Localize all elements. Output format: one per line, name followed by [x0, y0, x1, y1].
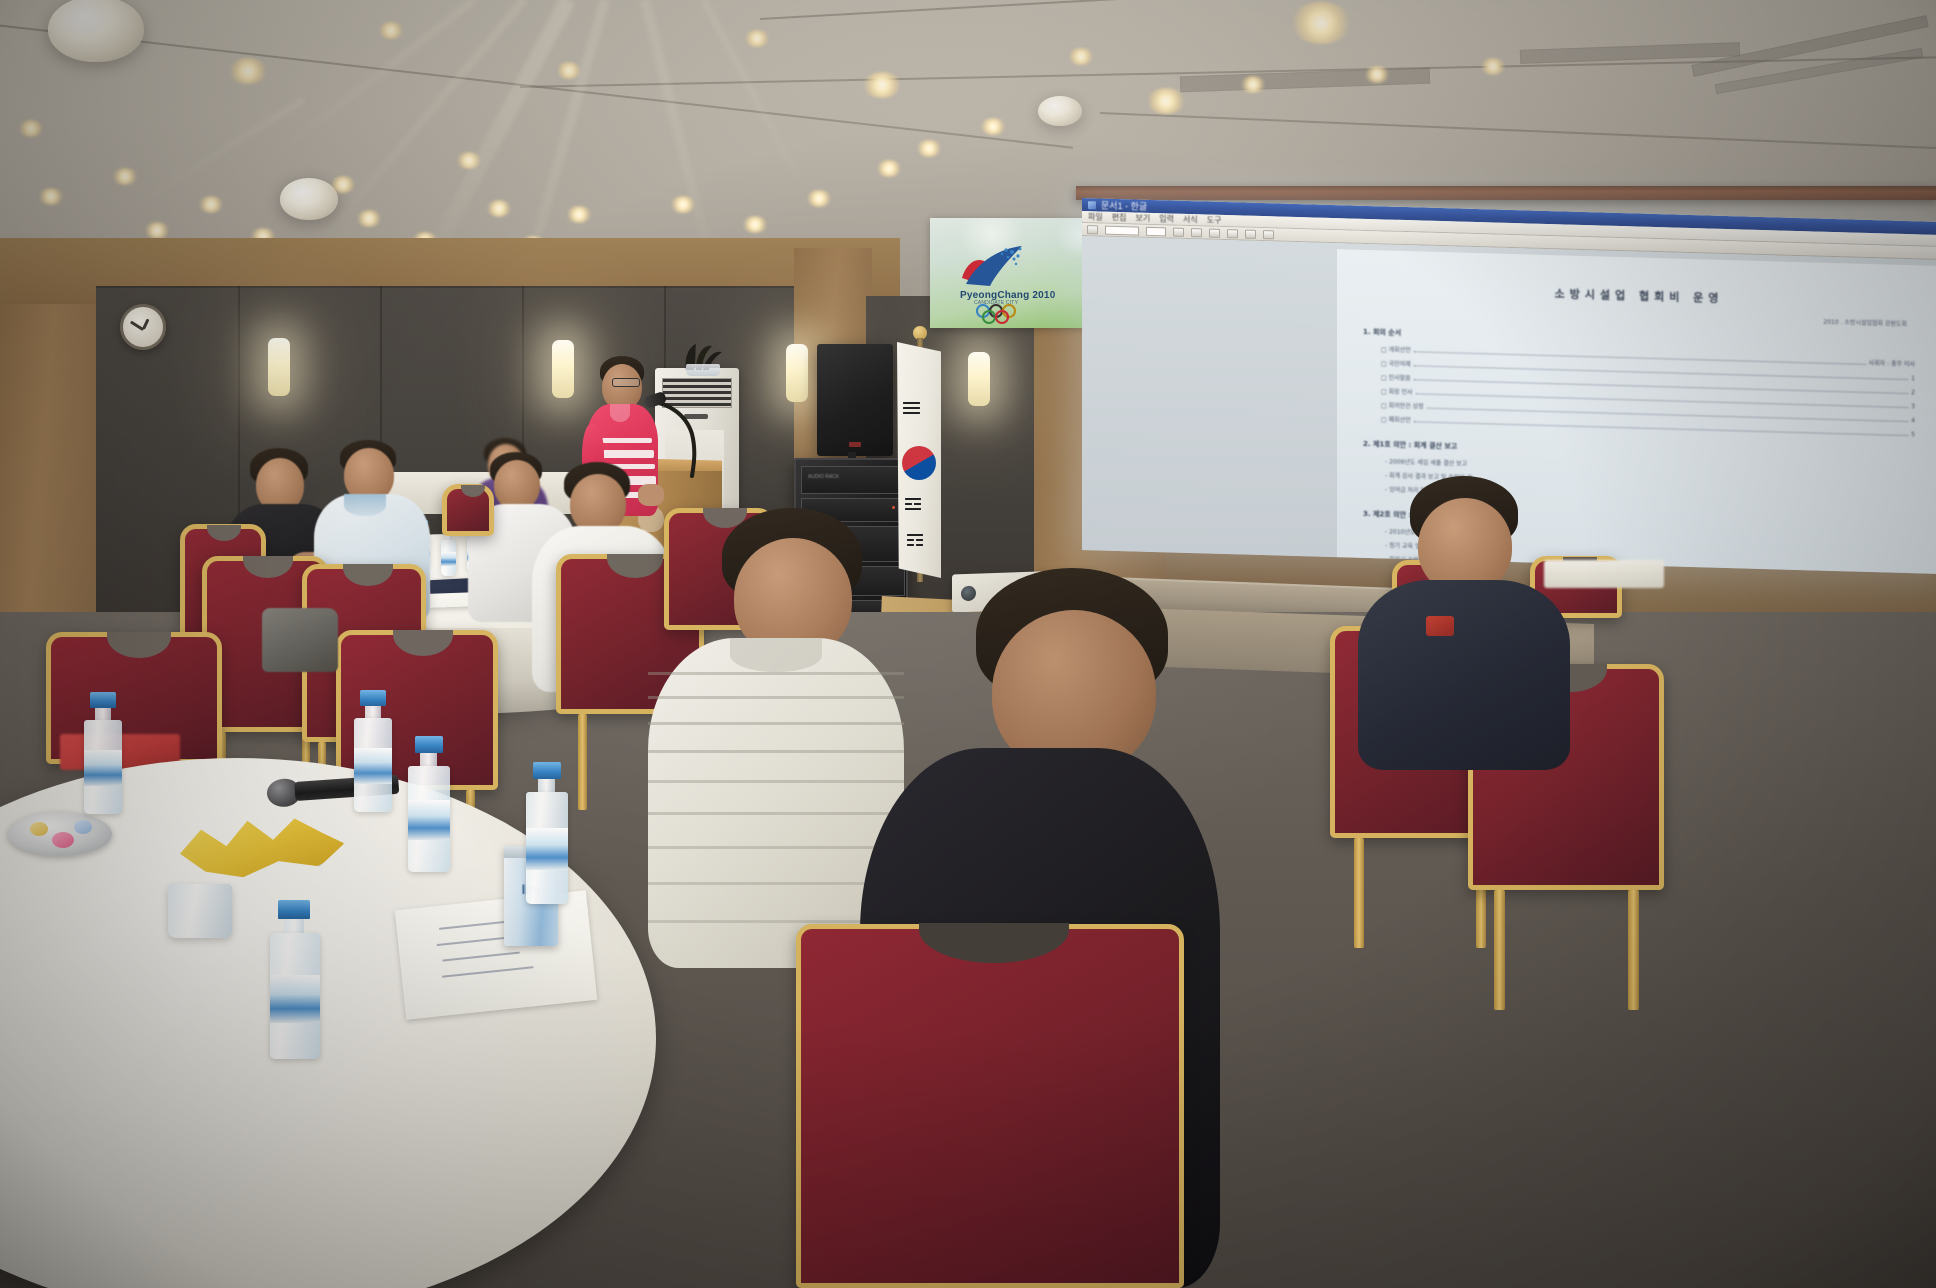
pyeongchang-logo-icon	[956, 244, 1030, 290]
pa-loudspeaker	[817, 344, 893, 456]
rack-label: AUDIO RACK	[808, 474, 839, 480]
eyeglasses	[612, 378, 640, 387]
decorative-plant	[682, 342, 724, 377]
toc-page: 4	[1911, 417, 1915, 424]
toolbar-button[interactable]	[1245, 229, 1256, 238]
shoulder-bag	[262, 608, 338, 672]
font-size-dropdown[interactable]	[1146, 226, 1166, 236]
toolbar-button[interactable]	[1227, 229, 1238, 238]
toc-label: □ 인사말씀	[1381, 372, 1411, 382]
shirt-logo	[1426, 616, 1454, 636]
wall-sconce	[968, 352, 990, 406]
presenter-hand	[638, 484, 664, 506]
toc-label: □ 폐회선언	[1381, 414, 1411, 424]
ceiling-vent	[1038, 96, 1082, 126]
toc-page: 사회자 : 총무 이사	[1869, 358, 1915, 368]
toc-leader	[1414, 421, 1909, 436]
handout-paper	[395, 890, 597, 1019]
taeguk-symbol	[902, 446, 936, 480]
chair-back	[442, 484, 494, 536]
gooseneck-microphone-icon	[646, 398, 706, 478]
projection-screen-frame	[1076, 186, 1936, 200]
toolbar-button[interactable]	[1263, 230, 1274, 239]
app-icon	[1088, 201, 1096, 209]
toc-page: 1	[1911, 375, 1915, 382]
menu-item-tools[interactable]: 도구	[1207, 214, 1222, 225]
toc-page: 3	[1911, 403, 1915, 410]
wall-sconce	[552, 340, 574, 398]
olympic-rings-icon	[972, 304, 1030, 324]
toolbar-button[interactable]	[1087, 225, 1098, 234]
toc-page: 2	[1911, 389, 1915, 396]
conference-room-photo: PyeongChang 2010 CANDIDATE CITY 소 문서1 - …	[0, 0, 1936, 1288]
wall-sconce	[268, 338, 290, 396]
toc-page: 5	[1911, 431, 1915, 438]
attendee-torso	[1358, 580, 1570, 770]
toc-label: □ 회의안건 상정	[1381, 400, 1424, 410]
drinking-glass	[168, 884, 232, 938]
korean-flag	[897, 342, 941, 578]
wall-sconce	[786, 344, 808, 402]
toc-label: □ 개회선언	[1381, 344, 1411, 354]
window-title-text: 문서1 - 한글	[1101, 199, 1147, 213]
menu-item-view[interactable]: 보기	[1135, 212, 1150, 223]
ceiling-dome-light	[48, 0, 144, 62]
menu-item-insert[interactable]: 입력	[1159, 213, 1174, 224]
wall-clock	[120, 304, 166, 350]
toolbar-button[interactable]	[1209, 228, 1220, 237]
toolbar-button[interactable]	[1191, 228, 1202, 237]
toc-label: □ 국민의례	[1381, 358, 1411, 368]
font-name-dropdown[interactable]	[1105, 225, 1139, 235]
snack-plate	[8, 812, 112, 856]
chair-back	[796, 924, 1184, 1288]
toolbar-button[interactable]	[1173, 227, 1184, 236]
toc-label: □ 회장 인사	[1381, 386, 1413, 396]
menu-item-edit[interactable]: 편집	[1112, 212, 1127, 223]
menu-item-format[interactable]: 서식	[1183, 214, 1198, 225]
far-table	[1544, 560, 1664, 588]
menu-item-file[interactable]: 파일	[1088, 211, 1103, 222]
